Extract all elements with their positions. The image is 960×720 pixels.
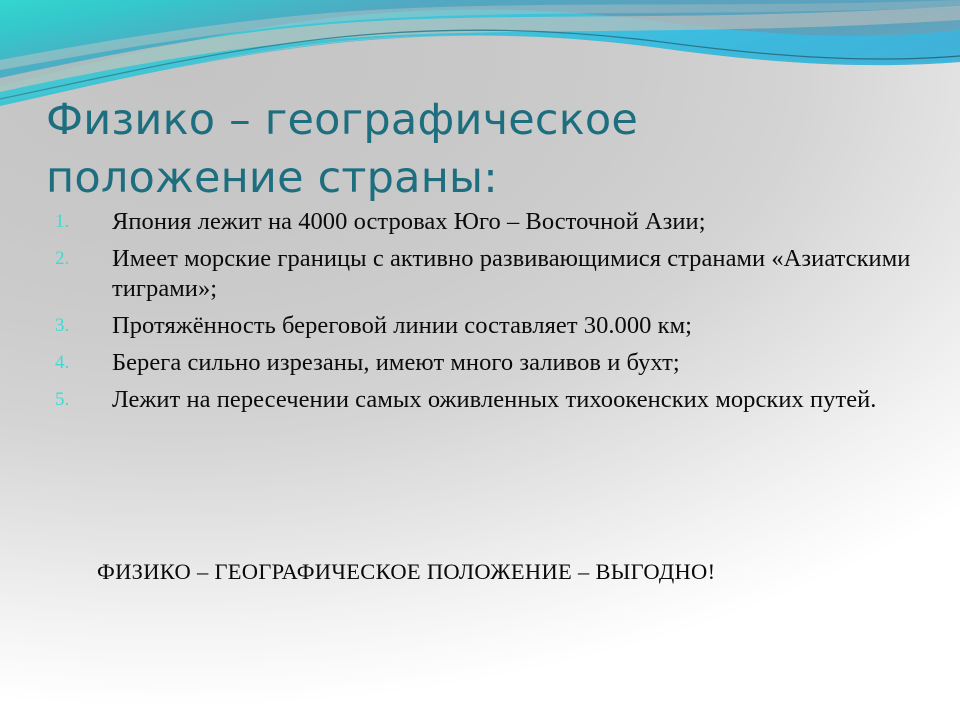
list-item-text: Протяжённость береговой линии составляет… — [112, 311, 930, 341]
list-item-number: 4. — [50, 348, 112, 378]
list-item: 5. Лежит на пересечении самых оживленных… — [50, 385, 930, 415]
list-item: 3. Протяжённость береговой линии составл… — [50, 311, 930, 341]
slide-title: Физико – географическое положение страны… — [46, 91, 886, 208]
list-item-text: Япония лежит на 4000 островах Юго – Вост… — [112, 207, 930, 237]
list-item-number: 5. — [50, 385, 112, 415]
list-item-number: 2. — [50, 244, 112, 274]
list-item-text: Лежит на пересечении самых оживленных ти… — [112, 385, 930, 415]
list-item-text: Берега сильно изрезаны, имеют много зали… — [112, 348, 930, 378]
presentation-slide: Физико – географическое положение страны… — [0, 0, 960, 720]
wave-hairline — [0, 30, 960, 99]
conclusion-text: ФИЗИКО – ГЕОГРАФИЧЕСКОЕ ПОЛОЖЕНИЕ – ВЫГО… — [97, 557, 812, 587]
list-item: 4. Берега сильно изрезаны, имеют много з… — [50, 348, 930, 378]
list-item: 2. Имеет морские границы с активно разви… — [50, 244, 930, 304]
list-item-number: 3. — [50, 311, 112, 341]
wave-sand-ribbon — [0, 6, 960, 92]
list-item: 1. Япония лежит на 4000 островах Юго – В… — [50, 207, 930, 237]
numbered-list: 1. Япония лежит на 4000 островах Юго – В… — [50, 207, 930, 422]
list-item-text: Имеет морские границы с активно развиваю… — [112, 244, 930, 304]
list-item-number: 1. — [50, 207, 112, 237]
wave-sand-ribbon-secondary — [0, 0, 960, 70]
